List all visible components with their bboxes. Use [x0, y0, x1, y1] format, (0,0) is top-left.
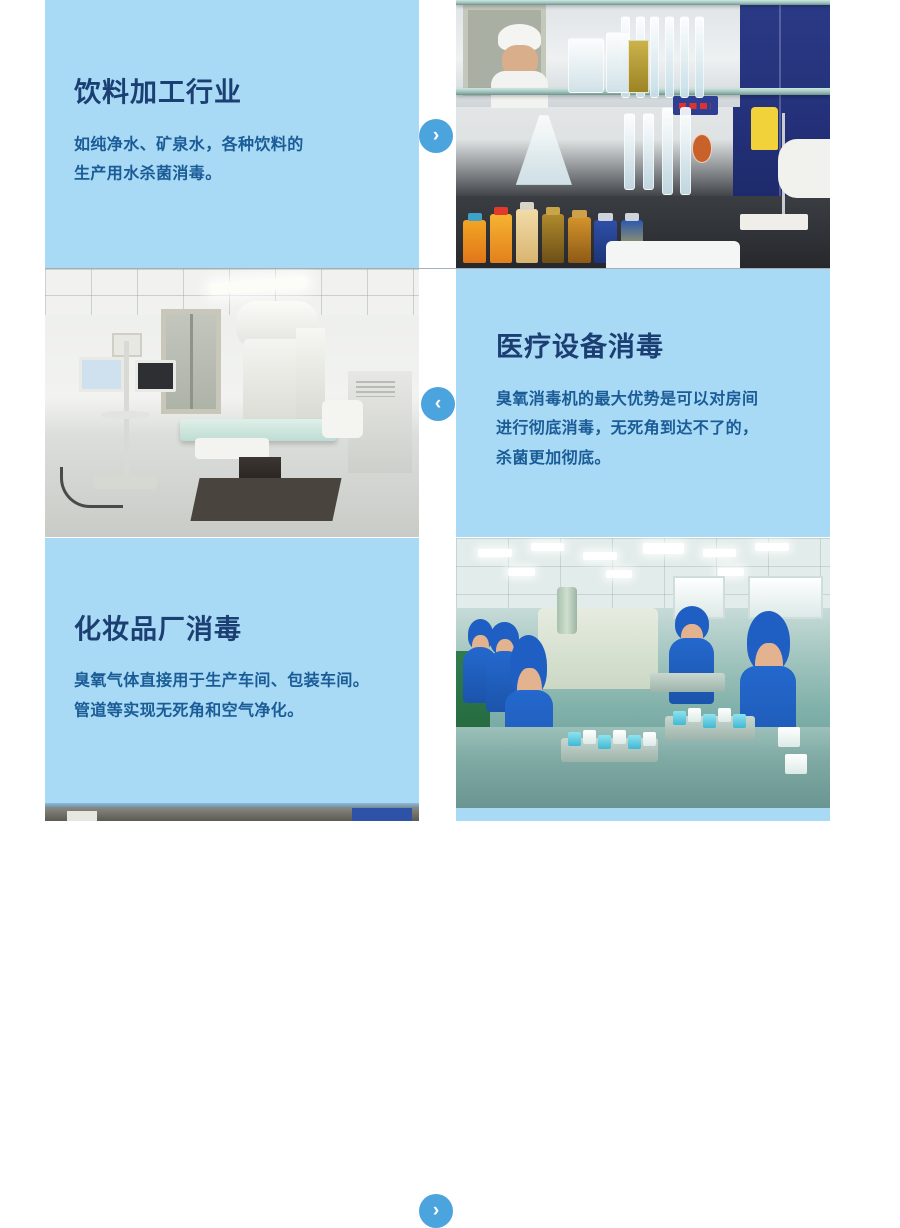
- row-cosmetics-text-cell: 化妆品厂消毒 臭氧气体直接用于生产车间、包装车间。 管道等实现无死角和空气净化。: [45, 538, 419, 803]
- row-cosmetics-image-cell: [456, 538, 830, 808]
- row-cosmetics-title: 化妆品厂消毒: [74, 615, 393, 645]
- promo-feature-grid: 饮料加工行业 如纯净水、矿泉水，各种饮料的 生产用水杀菌消毒。: [0, 0, 900, 821]
- desc-line: 如纯净水、矿泉水，各种饮料的: [74, 136, 304, 153]
- beverage-lab-photo: [456, 0, 830, 268]
- lab-glove: [751, 107, 777, 150]
- row-beverage: 饮料加工行业 如纯净水、矿泉水，各种饮料的 生产用水杀菌消毒。: [0, 0, 900, 268]
- row-cosmetics: 化妆品厂消毒 臭氧气体直接用于生产车间、包装车间。 管道等实现无死角和空气净化。: [0, 538, 900, 808]
- lab-shelf-top: [456, 0, 830, 5]
- med-cart-shelf: [101, 411, 150, 419]
- row-beverage-image-cell: [456, 0, 830, 268]
- row-medical-image-cell: [45, 269, 419, 537]
- chevron-right-icon: ›: [433, 126, 439, 145]
- row-medical-title: 医疗设备消毒: [496, 333, 810, 363]
- med-cable: [60, 467, 123, 508]
- med-floor-mat: [190, 478, 341, 521]
- desc-line: 进行彻底消毒，无死角到达不了的，: [496, 420, 758, 437]
- row-medical: 医疗设备消毒 臭氧消毒机的最大优势是可以对房间 进行彻底消毒，无死角到达不了的，…: [0, 269, 900, 537]
- row-partial-right: [0, 808, 900, 821]
- lab-flask: [516, 115, 572, 185]
- row-beverage-text-cell: 饮料加工行业 如纯净水、矿泉水，各种饮料的 生产用水杀菌消毒。: [45, 0, 419, 268]
- row-medical-description: 臭氧消毒机的最大优势是可以对房间 进行彻底消毒，无死角到达不了的， 杀菌更加彻底…: [496, 384, 810, 473]
- arrow-left-badge[interactable]: ‹: [421, 387, 455, 421]
- lab-hand: [778, 139, 830, 198]
- lab-stand-base: [740, 214, 807, 230]
- fac-machine: [538, 608, 658, 689]
- desc-line: 管道等实现无死角和空气净化。: [74, 702, 304, 719]
- desc-line: 杀菌更加彻底。: [496, 450, 611, 467]
- med-column: [296, 328, 326, 424]
- chevron-left-icon: ‹: [435, 394, 441, 413]
- med-arm: [243, 339, 303, 425]
- arrow-right-badge[interactable]: ›: [419, 1194, 453, 1228]
- row-beverage-panel: 饮料加工行业 如纯净水、矿泉水，各种饮料的 生产用水杀菌消毒。: [45, 0, 419, 268]
- row-cosmetics-panel: 化妆品厂消毒 臭氧气体直接用于生产车间、包装车间。 管道等实现无死角和空气净化。: [45, 538, 419, 803]
- chevron-right-icon: ›: [433, 1201, 439, 1220]
- med-monitor-right: [135, 360, 176, 392]
- cosmetics-cleanroom-photo: [456, 538, 830, 808]
- row-medical-panel: 医疗设备消毒 臭氧消毒机的最大优势是可以对房间 进行彻底消毒，无死角到达不了的，…: [456, 269, 830, 537]
- medical-xray-room-photo: [45, 269, 419, 537]
- row-partial-text-cell: [456, 808, 830, 821]
- desc-line: 臭氧消毒机的最大优势是可以对房间: [496, 390, 758, 407]
- row-cosmetics-description: 臭氧气体直接用于生产车间、包装车间。 管道等实现无死角和空气净化。: [74, 667, 393, 726]
- row-partial-panel: [456, 808, 830, 821]
- desc-line: 生产用水杀菌消毒。: [74, 166, 222, 183]
- med-headrest: [322, 400, 363, 438]
- med-monitor-left: [79, 357, 124, 392]
- desc-line: 臭氧气体直接用于生产车间、包装车间。: [74, 673, 369, 690]
- fac-tray-3: [650, 673, 725, 692]
- row-medical-text-cell: 医疗设备消毒 臭氧消毒机的最大优势是可以对房间 进行彻底消毒，无死角到达不了的，…: [456, 269, 830, 537]
- row-beverage-title: 饮料加工行业: [74, 79, 393, 109]
- lab-towel: [606, 241, 741, 268]
- arrow-right-badge[interactable]: ›: [419, 119, 453, 153]
- row-beverage-description: 如纯净水、矿泉水，各种饮料的 生产用水杀菌消毒。: [74, 130, 393, 189]
